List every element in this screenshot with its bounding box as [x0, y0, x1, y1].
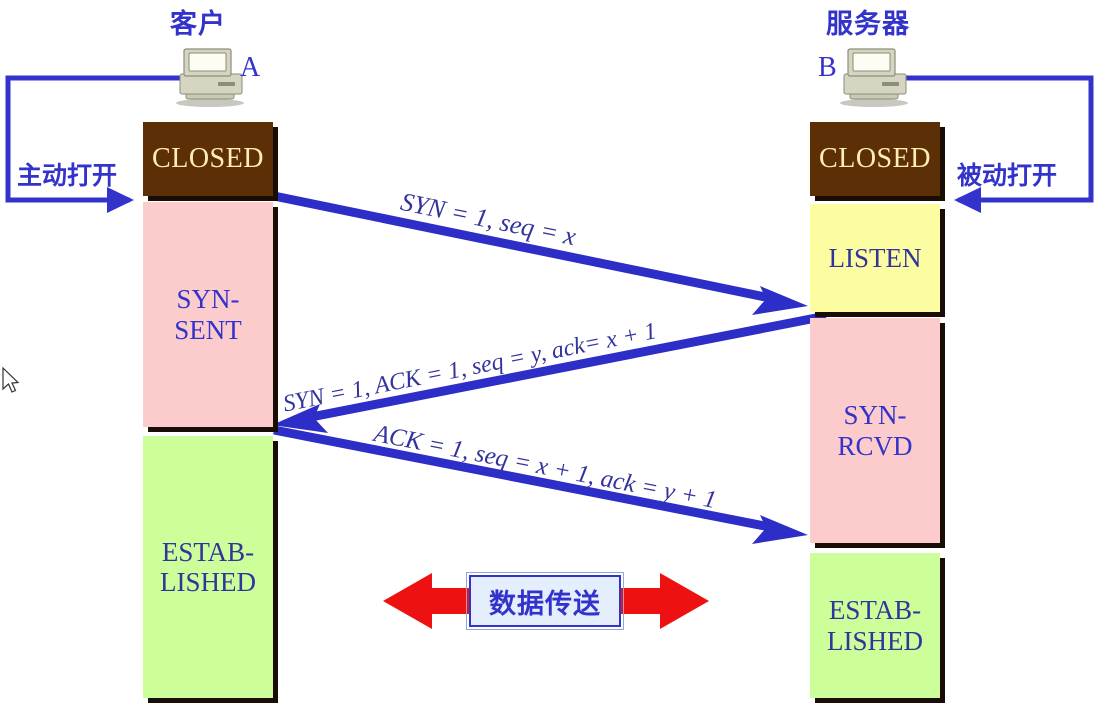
client-state-syn-sent-label: SYN- SENT	[174, 284, 242, 344]
server-state-syn-rcvd: SYN- RCVD	[810, 318, 940, 543]
segment-label-syn-ack: SYN = 1, ACK = 1, seq = y, ack= x + 1	[281, 318, 659, 418]
segment-arrow-syn-ack	[272, 316, 826, 433]
data-transfer-arrow-left	[383, 573, 478, 629]
client-state-established: ESTAB- LISHED	[143, 436, 273, 698]
segment-arrow-syn	[274, 196, 808, 315]
client-state-closed: CLOSED	[143, 122, 273, 196]
server-state-established: ESTAB- LISHED	[810, 553, 940, 698]
data-transfer-label: 数据传送	[489, 582, 601, 621]
server-letter-label: B	[818, 52, 837, 84]
server-state-listen-label: LISTEN	[829, 243, 922, 273]
server-caption: 服务器	[826, 2, 910, 41]
server-state-closed: CLOSED	[810, 122, 940, 196]
server-state-syn-rcvd-label: SYN- RCVD	[837, 400, 912, 460]
client-computer-icon	[166, 46, 250, 108]
client-caption: 客户	[170, 2, 226, 41]
segment-label-ack: ACK = 1, seq = x + 1, ack = y + 1	[372, 420, 719, 515]
server-state-established-label: ESTAB- LISHED	[827, 595, 923, 655]
segment-arrow-ack	[274, 430, 808, 544]
data-transfer-box: 数据传送	[469, 575, 621, 627]
client-active-open-label: 主动打开	[17, 156, 117, 192]
server-state-closed-label: CLOSED	[819, 143, 931, 174]
client-state-established-label: ESTAB- LISHED	[160, 537, 256, 597]
server-state-listen: LISTEN	[810, 204, 940, 312]
client-state-syn-sent: SYN- SENT	[143, 202, 273, 427]
server-computer-icon	[830, 46, 914, 108]
segment-label-syn: SYN = 1, seq = x	[398, 187, 578, 252]
data-transfer-arrow-right	[612, 573, 709, 629]
tcp-handshake-diagram: 客户 A 主动打开 CLOSED SYN- SENT ESTAB- LISHED…	[0, 0, 1099, 708]
client-state-closed-label: CLOSED	[152, 143, 264, 174]
server-passive-open-label: 被动打开	[957, 156, 1057, 192]
mouse-cursor-icon	[3, 368, 18, 392]
client-letter-label: A	[240, 52, 260, 84]
